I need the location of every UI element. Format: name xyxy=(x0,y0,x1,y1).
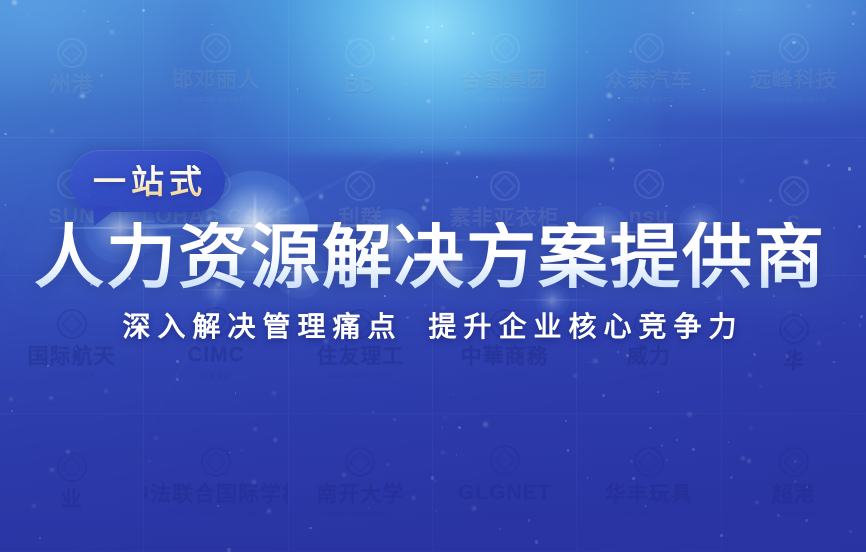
client-logo-watermark: 远峰科技YUANFENG TECH xyxy=(722,0,866,138)
subtitle-right: 提升企业核心竞争力 xyxy=(429,311,744,342)
client-logo-watermark: 众泰汽车ZOTYE AUTO xyxy=(577,0,721,138)
client-logo-emblem-icon xyxy=(201,33,231,63)
client-logo-emblem-icon xyxy=(345,171,375,201)
client-logo-emblem-icon xyxy=(490,171,520,201)
client-logo-subtitle: HETU GROUP xyxy=(479,97,531,104)
client-logo-emblem-icon xyxy=(57,38,87,68)
client-logo-emblem-icon xyxy=(490,33,520,63)
client-logo-subtitle: ZOTYE AUTO xyxy=(624,97,673,104)
client-logo-name: 合图集团 xyxy=(461,68,549,94)
page-title: 人力资源解决方案提供商 xyxy=(34,222,834,292)
client-logo-subtitle: HANDAN BEAUTY xyxy=(183,97,249,104)
client-logo-name: 州港 xyxy=(50,73,94,99)
client-logo-name: 众泰汽车 xyxy=(605,68,693,94)
client-logo-watermark: 州港 xyxy=(0,0,144,138)
client-logo-emblem-icon xyxy=(345,38,375,68)
client-logo-name: 远峰科技 xyxy=(750,68,838,94)
client-logo-name: BD xyxy=(344,73,376,99)
client-logo-name: 邯邓丽人 xyxy=(172,68,260,94)
client-logo-watermark: 合图集团HETU GROUP xyxy=(433,0,577,138)
promo-banner: 州港邯邓丽人HANDAN BEAUTYBD合图集团HETU GROUP众泰汽车Z… xyxy=(0,0,866,552)
one-stop-badge-label: 一站式 xyxy=(88,165,207,198)
client-logo-emblem-icon xyxy=(779,33,809,63)
client-logo-emblem-icon xyxy=(634,169,664,199)
client-logo-watermark: BD xyxy=(289,0,433,138)
subtitle: 深入解决管理痛点提升企业核心竞争力 xyxy=(0,313,866,341)
client-logo-subtitle: YUANFENG TECH xyxy=(761,97,827,104)
one-stop-badge: 一站式 xyxy=(70,150,225,212)
subtitle-left: 深入解决管理痛点 xyxy=(122,311,402,342)
client-logo-watermark: 邯邓丽人HANDAN BEAUTY xyxy=(144,0,288,138)
client-logo-emblem-icon xyxy=(779,176,809,206)
client-logo-emblem-icon xyxy=(634,33,664,63)
